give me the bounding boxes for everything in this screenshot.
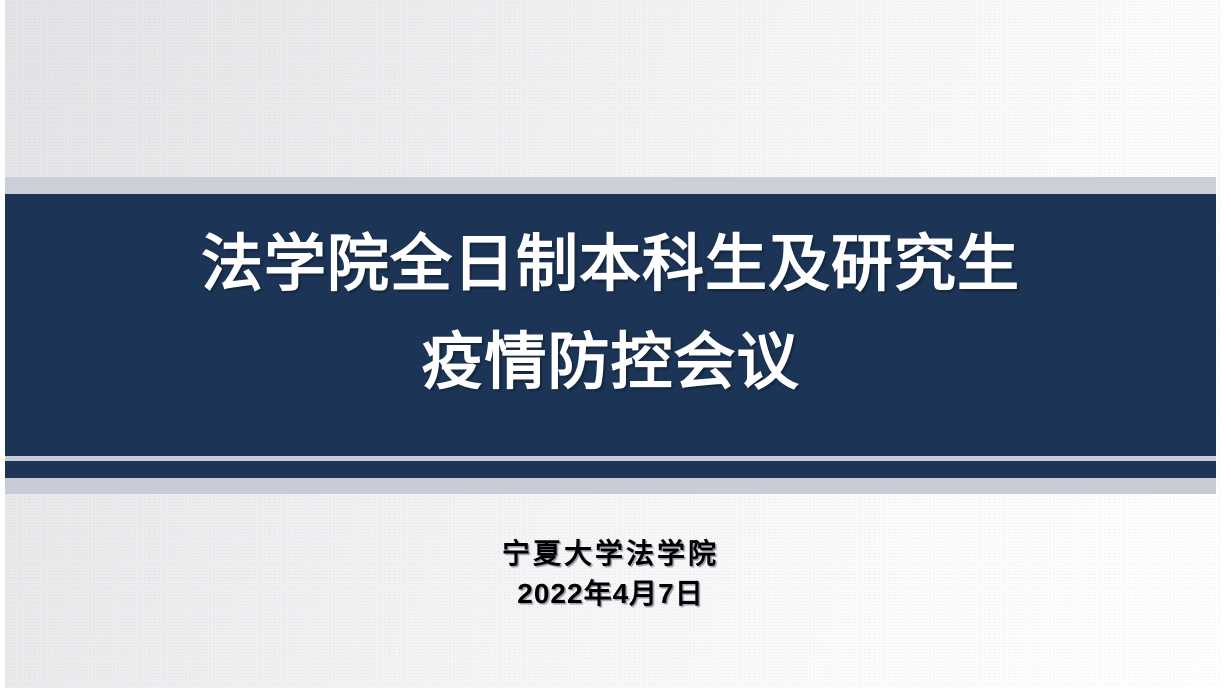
title-line-2: 疫情防控会议 bbox=[5, 314, 1216, 412]
decor-band-navy-stripe bbox=[5, 461, 1216, 478]
presentation-slide: 法学院全日制本科生及研究生 疫情防控会议 宁夏大学法学院 2022年4月7日 bbox=[0, 0, 1231, 696]
subtitle-date: 2022年4月7日 bbox=[5, 574, 1216, 614]
decor-band-gray-top bbox=[5, 177, 1216, 194]
slide-subtitle: 宁夏大学法学院 2022年4月7日 bbox=[5, 534, 1216, 614]
title-line-1: 法学院全日制本科生及研究生 bbox=[5, 216, 1216, 314]
slide-title: 法学院全日制本科生及研究生 疫情防控会议 bbox=[5, 216, 1216, 412]
subtitle-organization: 宁夏大学法学院 bbox=[5, 534, 1216, 574]
decor-band-gray-lower bbox=[5, 478, 1216, 494]
